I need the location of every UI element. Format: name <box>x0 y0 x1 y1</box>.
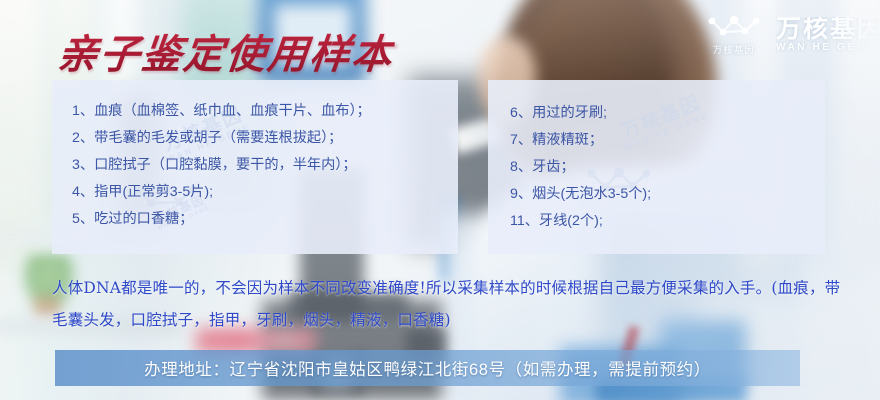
brand-logo: 万核基因 万核基因 WAN HE GENE <box>706 14 880 56</box>
logo-mark: 万核基因 <box>706 14 762 56</box>
list-item: 5、吃过的口香糖； <box>72 206 458 233</box>
logo-wordmark: 万核基因 WAN HE GENE <box>776 17 880 53</box>
list-item: 7、精液精斑； <box>510 127 825 154</box>
list-item: 8、牙齿； <box>510 154 825 181</box>
list-item: 2、带毛囊的毛发或胡子（需要连根拔起）； <box>72 125 458 152</box>
logo-name-en: WAN HE GENE <box>776 43 876 53</box>
list-item: 9、烟头(无泡水3-5个); <box>510 181 825 208</box>
sample-list-left: 1、血痕（血棉签、纸巾血、血痕干片、血布）； 2、带毛囊的毛发或胡子（需要连根拔… <box>52 80 458 233</box>
sample-list-panel-left: 万核基因 WAN HE GENE 万核基因 WAN HE GENE 1、血痕（血… <box>52 80 458 254</box>
list-item: 6、用过的牙刷; <box>510 100 825 127</box>
sample-list-panel-right: 万核基因 WAN HE GENE 6、用过的牙刷; 7、精液精斑； 8、牙齿； … <box>488 80 825 254</box>
page-title: 亲子鉴定使用样本 <box>55 22 397 80</box>
list-item: 11、牙线(2个); <box>510 208 825 235</box>
logo-mark-label: 万核基因 <box>713 43 755 56</box>
list-item: 4、指甲(正常剪3-5片); <box>72 179 458 206</box>
molecule-icon <box>706 14 762 40</box>
note-paragraph: 人体DNA都是唯一的，不会因为样本不同改变准确度!所以采集样本的时候根据自己最方… <box>52 272 842 336</box>
list-item: 1、血痕（血棉签、纸巾血、血痕干片、血布）； <box>72 98 458 125</box>
sample-list-right: 6、用过的牙刷; 7、精液精斑； 8、牙齿； 9、烟头(无泡水3-5个); 11… <box>488 80 825 235</box>
address-text: 办理地址：辽宁省沈阳市皇姑区鸭绿江北街68号（如需办理，需提前预约） <box>144 356 711 380</box>
logo-name-cn: 万核基因 <box>776 17 880 42</box>
poster-canvas: 万核基因 万核基因 WAN HE GENE 亲子鉴定使用样本 万核基因 WAN … <box>0 0 880 400</box>
list-item: 3、口腔拭子（口腔黏膜，要干的，半年内）； <box>72 152 458 179</box>
address-bar: 办理地址：辽宁省沈阳市皇姑区鸭绿江北街68号（如需办理，需提前预约） <box>55 350 800 386</box>
